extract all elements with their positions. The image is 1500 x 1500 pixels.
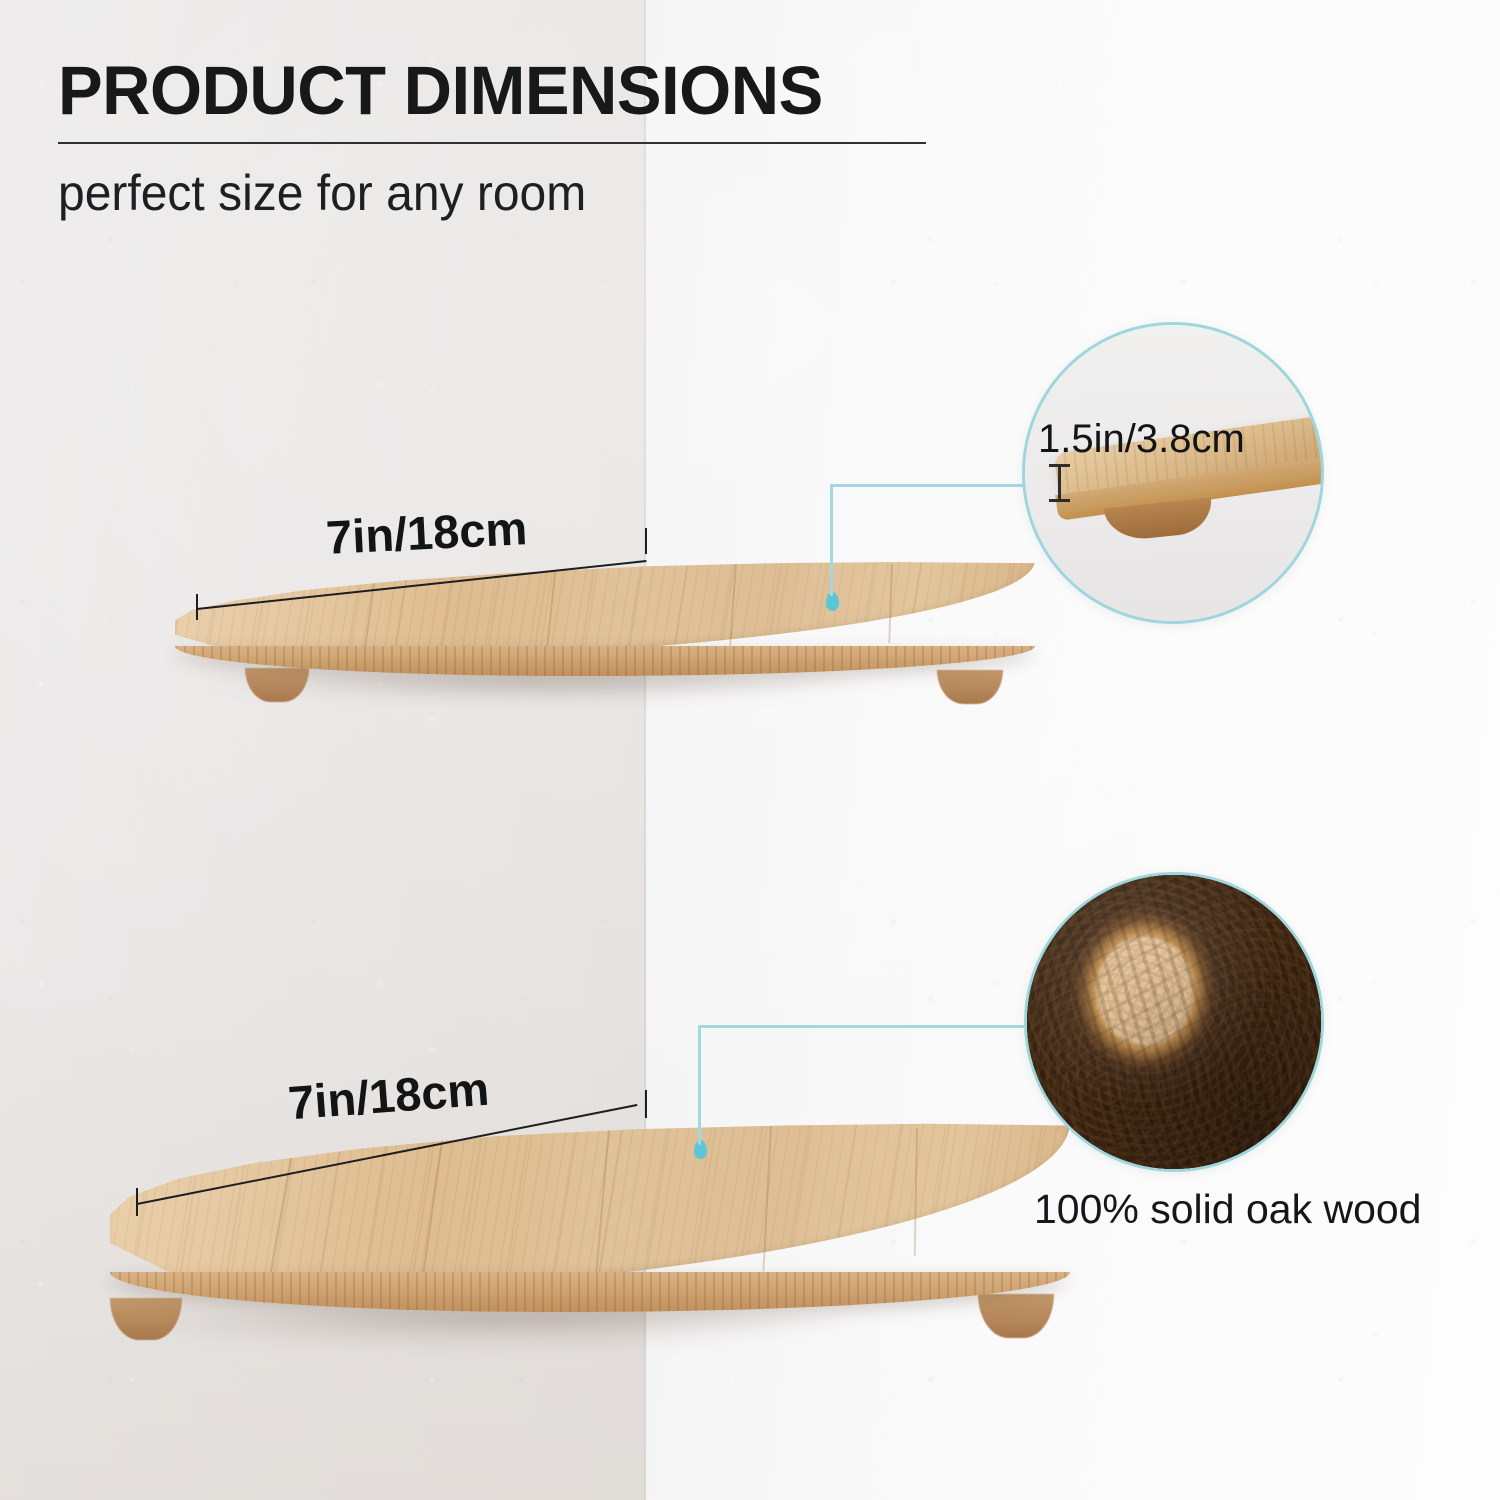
dim-tick-right xyxy=(645,528,647,554)
thickness-leader-vertical xyxy=(830,484,833,596)
thickness-callout-circle xyxy=(1022,322,1324,624)
material-callout-circle xyxy=(1024,872,1324,1172)
upper-shelf xyxy=(175,560,1035,685)
material-caption: 100% solid oak wood xyxy=(1034,1186,1421,1233)
product-infographic: PRODUCT DIMENSIONS perfect size for any … xyxy=(0,0,1500,1500)
header-block: PRODUCT DIMENSIONS perfect size for any … xyxy=(58,56,958,222)
thickness-label: 1.5in/3.8cm xyxy=(1038,417,1245,462)
upper-shelf-shadow xyxy=(215,676,1015,718)
material-leader-vertical xyxy=(698,1025,701,1145)
page-subtitle: perfect size for any room xyxy=(58,164,922,222)
log-photo-shading xyxy=(1027,875,1321,1169)
material-leader-horizontal xyxy=(698,1025,1034,1028)
dim-tick-right xyxy=(645,1090,647,1118)
lower-shelf-front-edge xyxy=(110,1272,1070,1312)
lower-shelf-shadow xyxy=(130,1314,1030,1366)
page-title: PRODUCT DIMENSIONS xyxy=(58,56,931,126)
title-divider xyxy=(58,142,926,144)
lower-shelf xyxy=(110,1122,1070,1327)
upper-width-label: 7in/18cm xyxy=(325,500,529,565)
